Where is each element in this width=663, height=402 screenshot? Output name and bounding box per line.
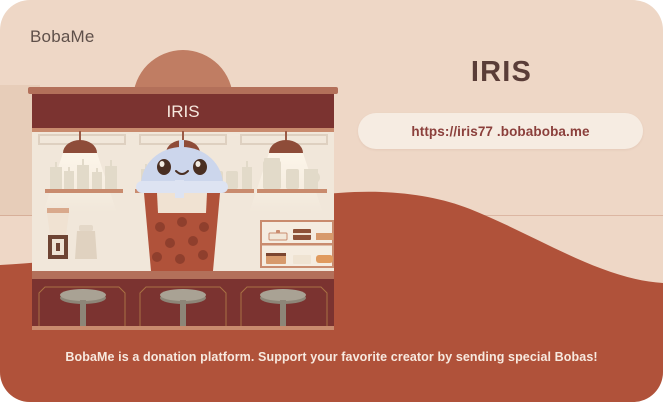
shelf-board-1 — [45, 189, 123, 193]
shelf-board-4 — [257, 189, 327, 193]
boba-shop-illustration: IRIS — [23, 45, 343, 330]
profile-panel: IRIS https://iris77 .bobaboba.me — [340, 40, 663, 160]
shop-floor — [32, 326, 334, 330]
brand-label: BobaMe — [30, 27, 95, 47]
counter-item-grinder — [47, 208, 69, 259]
shop-sign-label: IRIS — [166, 102, 199, 121]
pastry-display-case — [261, 221, 333, 267]
counter-top — [32, 271, 334, 279]
mascot-eye-left — [157, 159, 171, 175]
profile-url-text: https://iris77 .bobaboba.me — [411, 124, 589, 139]
bobame-profile-card: BobaMe IRIS — [0, 0, 663, 402]
awning-lip — [28, 87, 338, 94]
footer-tagline: BobaMe is a donation platform. Support y… — [0, 350, 663, 364]
profile-url-pill[interactable]: https://iris77 .bobaboba.me — [358, 113, 643, 149]
profile-display-name: IRIS — [340, 56, 663, 89]
mascot-eye-right — [193, 159, 207, 175]
